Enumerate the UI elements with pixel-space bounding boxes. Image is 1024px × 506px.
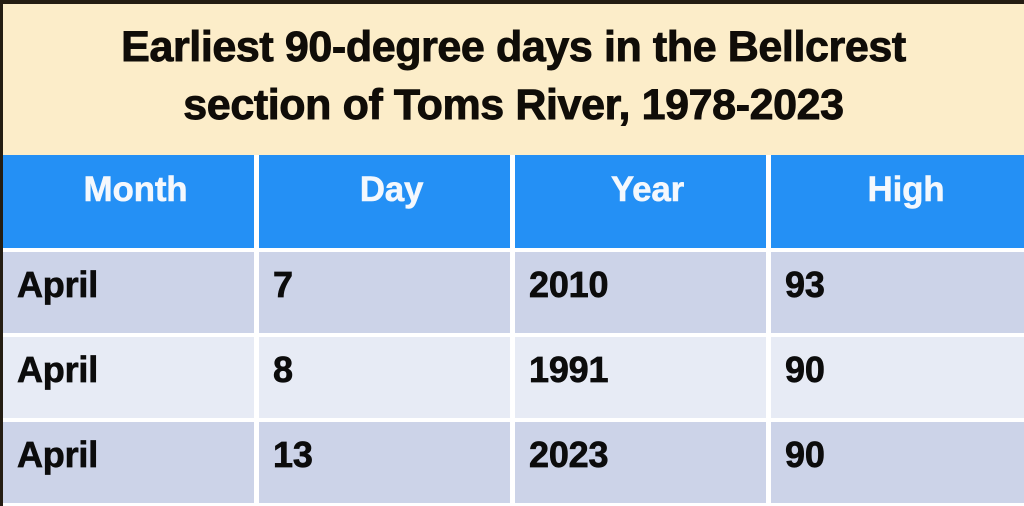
column-header-high[interactable]: High [771, 155, 1024, 252]
cell-month: April [3, 252, 259, 337]
cell-year: 1991 [515, 337, 771, 422]
cell-day-value: 7 [259, 252, 510, 303]
table-row: April 13 2023 90 [3, 422, 1024, 506]
cell-year-value: 2010 [515, 252, 766, 303]
table-header-row: Month Day Year High [3, 155, 1024, 252]
cell-high: 93 [771, 252, 1024, 337]
column-header-month[interactable]: Month [3, 155, 259, 252]
cell-month-value: April [3, 252, 254, 303]
table-row: April 8 1991 90 [3, 337, 1024, 422]
title-banner: Earliest 90-degree days in the Bellcrest… [3, 4, 1024, 155]
cell-year: 2023 [515, 422, 771, 506]
column-header-day[interactable]: Day [259, 155, 515, 252]
cell-day-value: 13 [259, 422, 510, 473]
screenshot-root: Earliest 90-degree days in the Bellcrest… [0, 0, 1024, 506]
page-title-line-1: Earliest 90-degree days in the Bellcrest [121, 23, 906, 71]
cell-high-value: 93 [771, 252, 1024, 303]
column-header-year-label: Year [515, 155, 766, 207]
cell-day: 8 [259, 337, 515, 422]
table-header: Month Day Year High [3, 155, 1024, 252]
cell-year-value: 2023 [515, 422, 766, 473]
page-title: Earliest 90-degree days in the Bellcrest… [121, 19, 906, 133]
cell-high: 90 [771, 337, 1024, 422]
table-row: April 7 2010 93 [3, 252, 1024, 337]
cell-day: 13 [259, 422, 515, 506]
page-title-line-2: section of Toms River, 1978-2023 [183, 81, 843, 129]
table-body: April 7 2010 93 April 8 [3, 252, 1024, 506]
column-header-year[interactable]: Year [515, 155, 771, 252]
cell-year: 2010 [515, 252, 771, 337]
cell-high-value: 90 [771, 337, 1024, 388]
cell-month-value: April [3, 422, 254, 473]
cell-month: April [3, 422, 259, 506]
cell-month-value: April [3, 337, 254, 388]
cell-year-value: 1991 [515, 337, 766, 388]
column-header-month-label: Month [3, 155, 254, 207]
column-header-day-label: Day [259, 155, 510, 207]
cell-day-value: 8 [259, 337, 510, 388]
cell-high-value: 90 [771, 422, 1024, 473]
cell-day: 7 [259, 252, 515, 337]
cell-month: April [3, 337, 259, 422]
column-header-high-label: High [771, 155, 1024, 207]
earliest-90-degree-days-table: Month Day Year High April 7 [3, 155, 1024, 506]
cell-high: 90 [771, 422, 1024, 506]
